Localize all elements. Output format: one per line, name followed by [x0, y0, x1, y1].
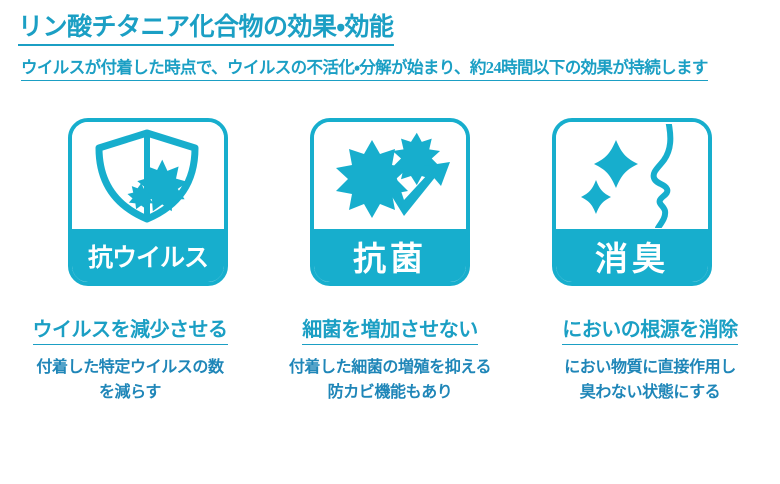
- germ-arrow-down-icon: [328, 124, 452, 228]
- caption-line: を減らす: [0, 381, 260, 406]
- caption-column-deodorize: においの根源を消除 におい物質に直接作用し 臭わない状態にする: [520, 318, 780, 406]
- caption-heading-anti-bacteria: 細菌を増加させない: [302, 318, 478, 345]
- tile-label-anti-virus: 抗ウイルス: [72, 229, 224, 282]
- caption-line: におい物質に直接作用し: [520, 356, 780, 381]
- caption-heading-deodorize: においの根源を消除: [562, 318, 738, 345]
- subtitle-row: ウイルスが付着した時点で、ウイルスの不活化・分解が始まり、約24時間以下の効果が…: [18, 59, 780, 81]
- caption-heading-anti-virus: ウイルスを減少させる: [33, 318, 228, 345]
- face-sparkle-icon: [572, 124, 692, 228]
- shield-virus-icon: [92, 126, 204, 226]
- page-subtitle: ウイルスが付着した時点で、ウイルスの不活化・分解が始まり、約24時間以下の効果が…: [21, 59, 708, 81]
- tile-anti-virus: 抗ウイルス: [68, 118, 228, 286]
- caption-line: 臭わない状態にする: [520, 381, 780, 406]
- tile-deodorize: 消臭: [552, 118, 712, 286]
- captions-row: ウイルスを減少させる 付着した特定ウイルスの数 を減らす 細菌を増加させない 付…: [0, 318, 780, 406]
- infographic-page: リン酸チタニア化合物の効果・効能 ウイルスが付着した時点で、ウイルスの不活化・分…: [0, 0, 780, 484]
- tile-label-anti-bacteria: 抗菌: [314, 229, 466, 282]
- caption-line: 付着した特定ウイルスの数: [0, 356, 260, 381]
- caption-body-deodorize: におい物質に直接作用し 臭わない状態にする: [520, 356, 780, 406]
- page-title: リン酸チタニア化合物の効果・効能: [18, 14, 394, 46]
- feature-tiles: 抗ウイルス 抗菌 消臭: [0, 118, 780, 286]
- tile-anti-bacteria: 抗菌: [310, 118, 470, 286]
- caption-line: 付着した細菌の増殖を抑える: [260, 356, 520, 381]
- caption-column-anti-bacteria: 細菌を増加させない 付着した細菌の増殖を抑える 防カビ機能もあり: [260, 318, 520, 406]
- caption-body-anti-bacteria: 付着した細菌の増殖を抑える 防カビ機能もあり: [260, 356, 520, 406]
- caption-body-anti-virus: 付着した特定ウイルスの数 を減らす: [0, 356, 260, 406]
- tile-art-anti-virus: [72, 122, 224, 229]
- tile-art-deodorize: [556, 122, 708, 229]
- tile-art-anti-bacteria: [314, 122, 466, 229]
- caption-line: 防カビ機能もあり: [260, 381, 520, 406]
- header: リン酸チタニア化合物の効果・効能 ウイルスが付着した時点で、ウイルスの不活化・分…: [0, 0, 780, 81]
- caption-column-anti-virus: ウイルスを減少させる 付着した特定ウイルスの数 を減らす: [0, 318, 260, 406]
- tile-label-deodorize: 消臭: [556, 229, 708, 282]
